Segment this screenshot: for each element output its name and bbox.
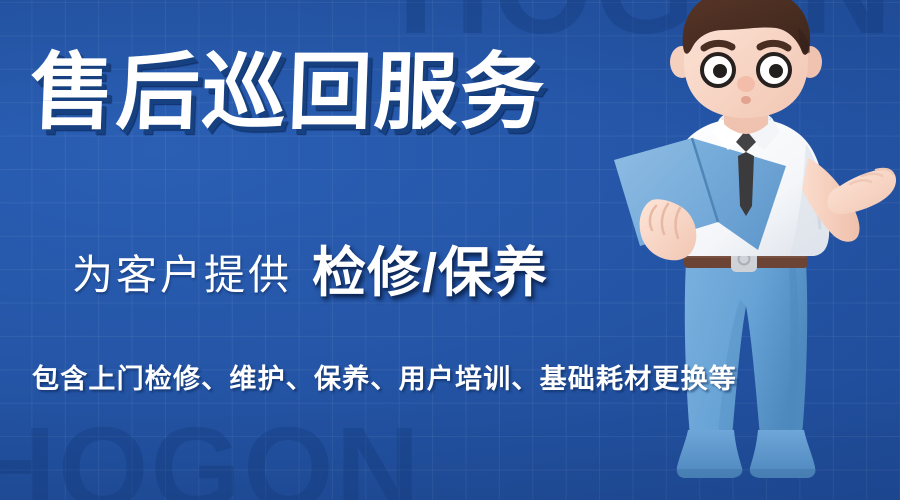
head	[683, 0, 811, 118]
subtitle-strong: 检修/保养	[312, 246, 548, 300]
after-sales-service-banner: HOGON HOGON	[0, 0, 900, 500]
subtitle-lead: 为客户提供	[72, 255, 292, 300]
mouth	[741, 96, 751, 104]
copy-block: 售后巡回服务 为客户提供 检修/保养 包含上门检修、维护、保养、用户培训、基础耗…	[0, 0, 700, 500]
tagline: 包含上门检修、维护、保养、用户培训、基础耗材更换等	[32, 366, 737, 393]
page-title: 售后巡回服务	[28, 48, 547, 136]
trousers	[685, 262, 807, 436]
subtitle-row: 为客户提供 检修/保养	[72, 246, 548, 300]
nose	[737, 76, 755, 92]
